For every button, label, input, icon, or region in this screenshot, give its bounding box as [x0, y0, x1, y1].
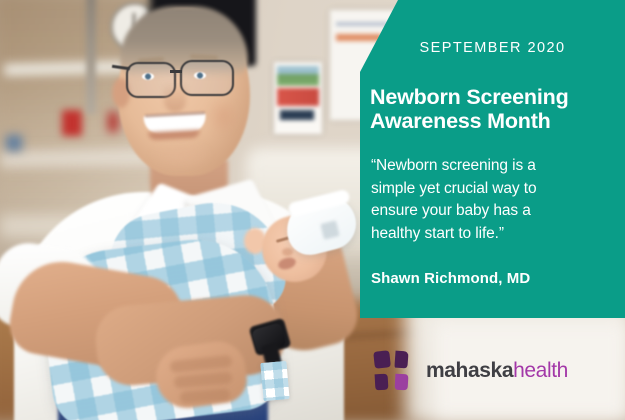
plaid-pattern [260, 361, 289, 401]
poster-band [277, 88, 319, 106]
panel-content: SEPTEMBER 2020 Newborn Screening Awarene… [360, 0, 625, 318]
eyeglasses-bridge [170, 70, 182, 73]
pull-quote: “Newborn screening is a simple yet cruci… [371, 155, 536, 245]
logo-wordmark: mahaskahealth [426, 360, 568, 381]
flower-mark-icon [370, 348, 416, 393]
headline: Newborn Screening Awareness Month [370, 85, 569, 133]
chin [150, 140, 212, 170]
nose [164, 82, 186, 112]
eye [142, 73, 154, 80]
logo-word-mahaska: mahaska [426, 359, 513, 382]
logo-word-health: health [513, 359, 568, 382]
eyeglasses-lens [180, 60, 234, 96]
baby-nose [282, 248, 293, 256]
promo-card: SEPTEMBER 2020 Newborn Screening Awarene… [0, 0, 625, 420]
mahaska-health-logo: mahaskahealth [370, 348, 568, 393]
eye [194, 72, 206, 79]
teal-message-panel: SEPTEMBER 2020 Newborn Screening Awarene… [360, 0, 625, 318]
supply-box [108, 112, 118, 132]
poster-image [277, 66, 319, 86]
equipment-pole [86, 0, 96, 114]
framed-sign-line [336, 34, 382, 41]
hospital-tag [260, 361, 289, 401]
poster-band [280, 110, 314, 120]
supply-item [6, 135, 22, 151]
cheek [206, 96, 240, 136]
quote-attribution: Shawn Richmond, MD [371, 270, 530, 287]
supply-box [62, 110, 82, 136]
framed-sign-line [336, 22, 388, 26]
date-label: SEPTEMBER 2020 [360, 40, 625, 56]
